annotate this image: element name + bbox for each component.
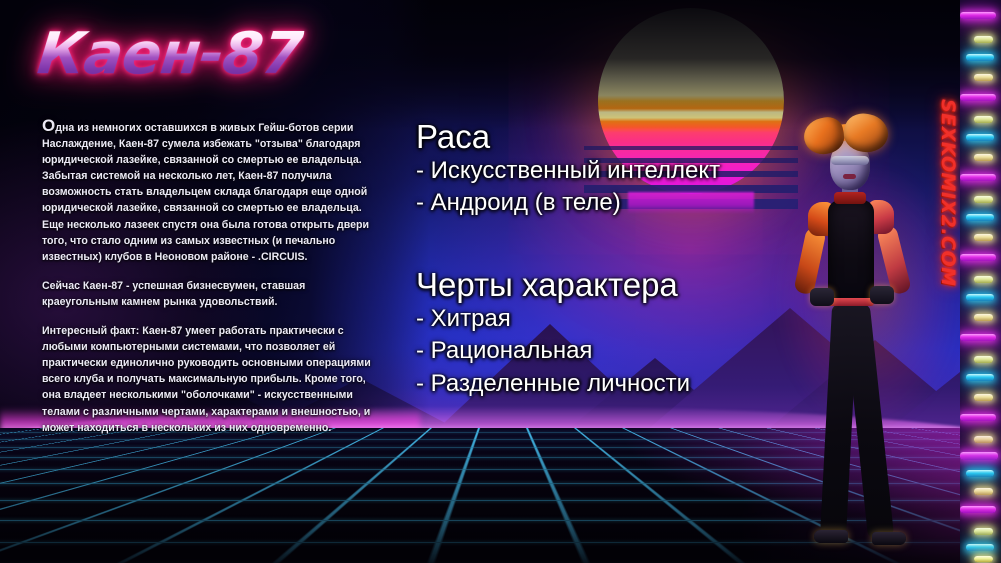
neon-bar-yel (974, 488, 993, 495)
traits-list-item: - Рациональная (416, 335, 690, 368)
character-android-woman (780, 112, 960, 563)
neon-bar-mag (960, 506, 996, 513)
traits-list: - Хитрая- Рациональная- Разделенные личн… (416, 303, 690, 401)
neon-bar-yel (974, 234, 993, 241)
race-list: - Искусственный интеллект- Андроид (в те… (416, 155, 720, 220)
bio-drop-cap: О (42, 116, 55, 135)
page-title: Каен-87 (35, 24, 305, 82)
character-profile-page: Каен-87 Каен-87 Одна из немногих оставши… (0, 0, 1001, 563)
bio-paragraph: Одна из немногих оставшихся в живых Гейш… (42, 118, 384, 265)
neon-bar-cyan (966, 214, 994, 221)
character-torso-vest (828, 200, 874, 300)
neon-bar-yel (974, 74, 993, 81)
character-visor-glasses (831, 156, 869, 165)
neon-bar-yel (974, 556, 993, 562)
character-lips (843, 174, 856, 179)
neon-bar-mag (960, 414, 996, 421)
neon-bar-yel (974, 116, 993, 123)
neon-bar-mag (960, 254, 996, 261)
neon-bar-yel (974, 356, 993, 363)
race-list-item: - Андроид (в теле) (416, 187, 720, 220)
neon-bar-yel (974, 314, 993, 321)
bio-paragraph: Сейчас Каен-87 - успешная бизнесвумен, с… (42, 278, 384, 310)
character-hand-left (810, 288, 834, 306)
neon-bar-mag (960, 12, 996, 19)
race-section: Раса - Искусственный интеллект- Андроид … (416, 120, 720, 220)
character-shoe-left (814, 530, 848, 543)
bio-paragraph: Интересный факт: Каен-87 умеет работать … (42, 323, 384, 436)
character-belt (828, 298, 874, 306)
neon-bar-yel (974, 528, 993, 535)
neon-bar-cyan (966, 294, 994, 301)
neon-light-sidebar (960, 0, 1001, 563)
traits-heading: Черты характера (416, 268, 690, 303)
watermark-text: SEXKOMIX2.COM (937, 99, 959, 279)
neon-bar-yel (974, 276, 993, 283)
neon-bar-cyan (966, 374, 994, 381)
neon-bar-mag (960, 174, 996, 181)
neon-bar-yel (974, 36, 993, 43)
traits-section: Черты характера - Хитрая- Рациональная- … (416, 268, 690, 401)
neon-bar-mag (960, 334, 996, 341)
character-collar (834, 192, 866, 204)
neon-bar-cyan (966, 54, 994, 61)
neon-bar-mag (960, 94, 996, 101)
neon-bar-yel (974, 196, 993, 203)
neon-bar-cyan (966, 544, 994, 551)
neon-bar-cyan (966, 470, 994, 477)
neon-bar-yel (974, 436, 993, 443)
character-bio-text: Одна из немногих оставшихся в живых Гейш… (42, 118, 384, 436)
traits-list-item: - Разделенные личности (416, 368, 690, 401)
neon-bar-cyan (966, 134, 994, 141)
neon-bar-yel (974, 154, 993, 161)
neon-bar-yel (974, 394, 993, 401)
traits-list-item: - Хитрая (416, 303, 690, 336)
race-heading: Раса (416, 120, 720, 155)
character-hand-right (870, 286, 894, 304)
character-shoe-right (872, 532, 906, 545)
neon-bar-mag (960, 452, 998, 460)
race-list-item: - Искусственный интеллект (416, 155, 720, 188)
site-watermark: SEXKOMIX2.COM (936, 100, 960, 280)
